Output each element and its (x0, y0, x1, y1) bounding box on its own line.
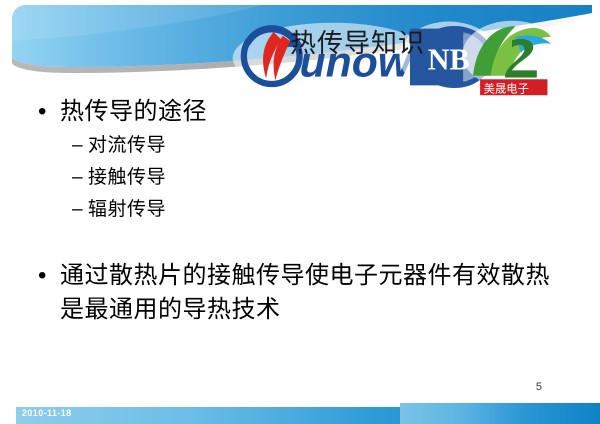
page-title: 热传导知识 (290, 29, 425, 59)
bullet-item-level2: – 接触传导 (0, 163, 600, 193)
slide-body: • 热传导的途径 – 对流传导 – 接触传导 – 辐射传导 • 通过散热片的接触… (0, 95, 600, 329)
footer-date: 2010-11-18 (22, 408, 72, 418)
sunow-logo: unow ® (43, 19, 151, 61)
bullet-item-level1: • 通过散热片的接触传导使电子元器件有效散热是最通用的导热技术 (0, 259, 600, 327)
bullet-item-level1: • 热传导的途径 (0, 95, 600, 129)
page-number: 5 (536, 381, 542, 393)
sub-bullet-marker: – (72, 195, 88, 225)
footer-bar-shape (0, 402, 600, 424)
bullet-item-level2: – 对流传导 (0, 131, 600, 161)
slide: unow ® NB (0, 0, 600, 424)
slide-footer-bar: 2010-11-18 (0, 402, 600, 424)
sub-bullet-text: 对流传导 (88, 131, 166, 161)
bullet-text: 热传导的途径 (60, 95, 207, 129)
bullet-item-level2: – 辐射传导 (0, 195, 600, 225)
sub-bullet-text: 接触传导 (88, 163, 166, 193)
svg-text:美晟电子: 美晟电子 (484, 82, 529, 96)
meicheng-electronics-logo: 美晟电子 (222, 19, 278, 63)
sub-bullet-marker: – (72, 163, 88, 193)
content-block: • 热传导的途径 – 对流传导 – 接触传导 – 辐射传导 (0, 95, 600, 225)
bullet-marker: • (38, 95, 60, 129)
bullet-marker: • (38, 259, 60, 293)
slide-header-banner: unow ® NB (12, 5, 592, 83)
bullet-text: 通过散热片的接触传导使电子元器件有效散热是最通用的导热技术 (60, 259, 560, 327)
sub-bullet-text: 辐射传导 (88, 195, 166, 225)
content-block: • 通过散热片的接触传导使电子元器件有效散热是最通用的导热技术 (0, 259, 600, 327)
nb-logo: NB (159, 18, 215, 62)
sub-bullet-marker: – (72, 131, 88, 161)
